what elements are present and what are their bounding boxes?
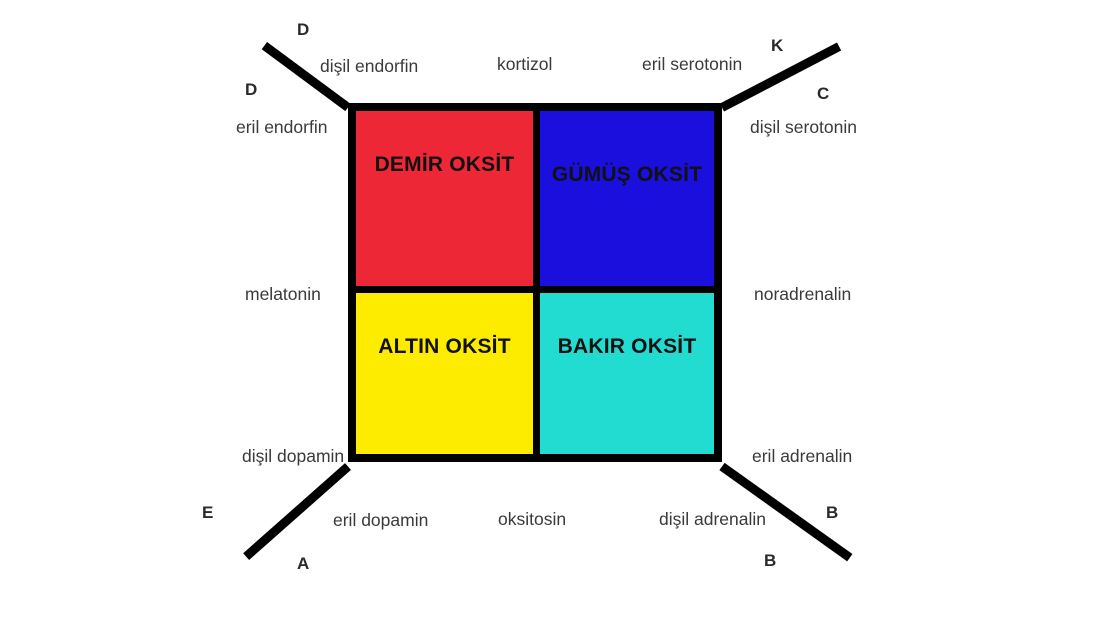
corner-letter-top-right-lower: C: [817, 84, 829, 104]
label-dishil-adrenalin: dişil adrenalin: [659, 509, 766, 530]
corner-letter-bottom-left-upper: E: [202, 503, 213, 523]
label-eril-dopamin: eril dopamin: [333, 510, 428, 531]
corner-letter-bottom-left-lower: A: [297, 554, 309, 574]
corner-letter-top-left-lower: D: [245, 80, 257, 100]
label-oksitosin: oksitosin: [498, 509, 566, 530]
label-dishil-serotonin: dişil serotonin: [750, 117, 857, 138]
quadrant-bottom-left[interactable]: ALTIN OKSİT: [356, 293, 533, 454]
label-melatonin: melatonin: [245, 284, 321, 305]
label-dishil-endorfin: dişil endorfin: [320, 56, 418, 77]
label-noradrenalin: noradrenalin: [754, 284, 851, 305]
label-dishil-dopamin: dişil dopamin: [242, 446, 344, 467]
quadrant-bottom-left-label: ALTIN OKSİT: [378, 293, 510, 359]
quadrant-top-right-label: GÜMÜŞ OKSİT: [552, 111, 702, 187]
label-eril-endorfin: eril endorfin: [236, 117, 327, 138]
corner-letter-top-right-upper: K: [771, 36, 783, 56]
quadrant-top-left[interactable]: DEMİR OKSİT: [356, 111, 533, 286]
quadrant-top-right[interactable]: GÜMÜŞ OKSİT: [540, 111, 714, 286]
quadrant-square: DEMİR OKSİT GÜMÜŞ OKSİT ALTIN OKSİT BAKI…: [348, 103, 722, 462]
label-eril-serotonin: eril serotonin: [642, 54, 742, 75]
corner-letter-top-left-upper: D: [297, 20, 309, 40]
diagram-canvas: DEMİR OKSİT GÜMÜŞ OKSİT ALTIN OKSİT BAKI…: [0, 0, 1120, 632]
label-kortizol: kortizol: [497, 54, 552, 75]
corner-letter-bottom-right-lower: B: [764, 551, 776, 571]
corner-letter-bottom-right-upper: B: [826, 503, 838, 523]
quadrant-top-left-label: DEMİR OKSİT: [375, 111, 515, 177]
quadrant-bottom-right[interactable]: BAKIR OKSİT: [540, 293, 714, 454]
quadrant-bottom-right-label: BAKIR OKSİT: [558, 293, 697, 359]
label-eril-adrenalin: eril adrenalin: [752, 446, 852, 467]
